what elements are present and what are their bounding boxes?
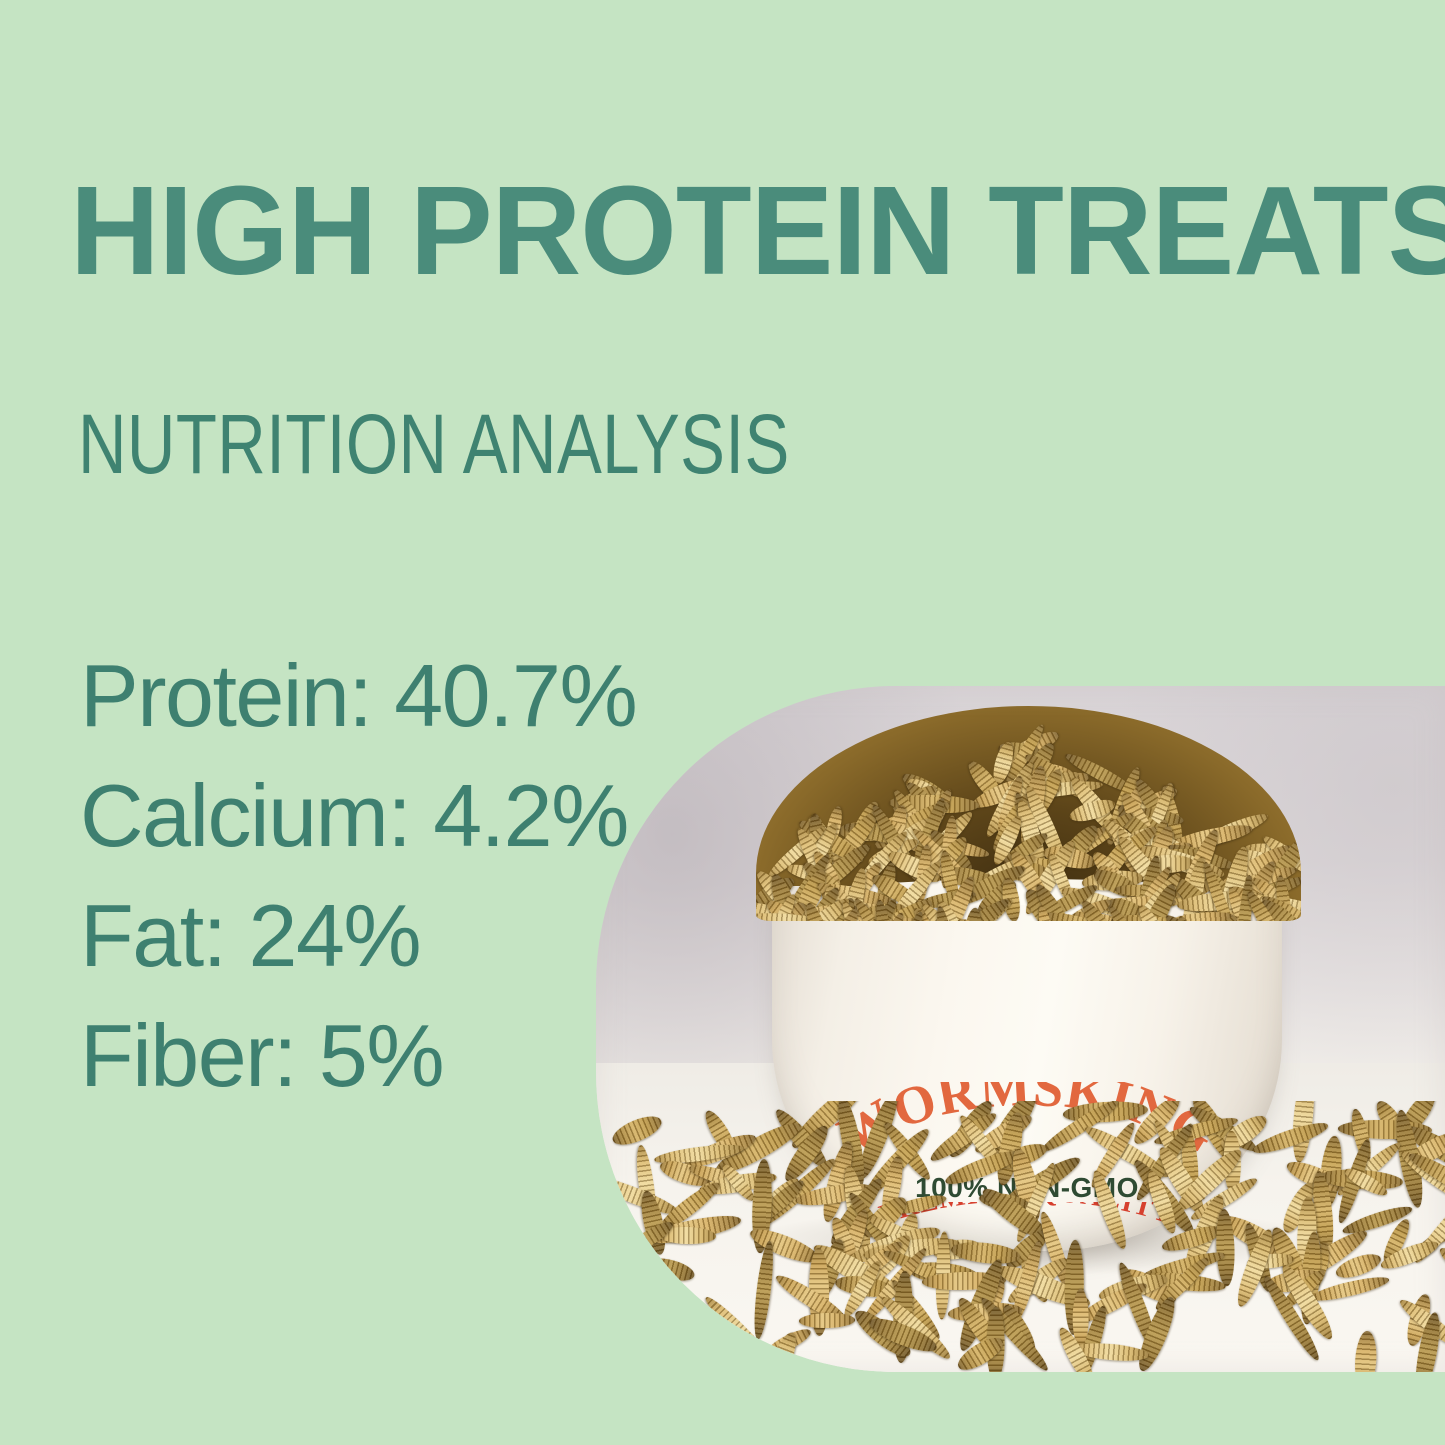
product-photo-scene: WORMSKING 100% NON-GMO PREMIUM QUALITY (596, 686, 1445, 1372)
nutrition-fat-text: Fat: 24% (80, 886, 420, 985)
nutrition-protein-text: Protein: 40.7% (80, 646, 636, 745)
larva (609, 1111, 665, 1150)
larva (799, 1312, 855, 1328)
product-photo: WORMSKING 100% NON-GMO PREMIUM QUALITY (596, 686, 1445, 1372)
nutrition-calcium-text: Calcium: 4.2% (80, 766, 628, 865)
larva (1435, 1242, 1445, 1306)
nutrition-fiber-text: Fiber: 5% (80, 1006, 443, 1105)
page-title: HIGH PROTEIN TREATS (70, 168, 1380, 294)
section-subtitle: NUTRITION ANALYSIS (78, 402, 790, 486)
larvae-scatter (596, 1101, 1445, 1372)
larva (1088, 1169, 1132, 1253)
poster-canvas: HIGH PROTEIN TREATS NUTRITION ANALYSIS P… (0, 0, 1445, 1445)
larva (1353, 1330, 1377, 1372)
larva (751, 1239, 777, 1339)
